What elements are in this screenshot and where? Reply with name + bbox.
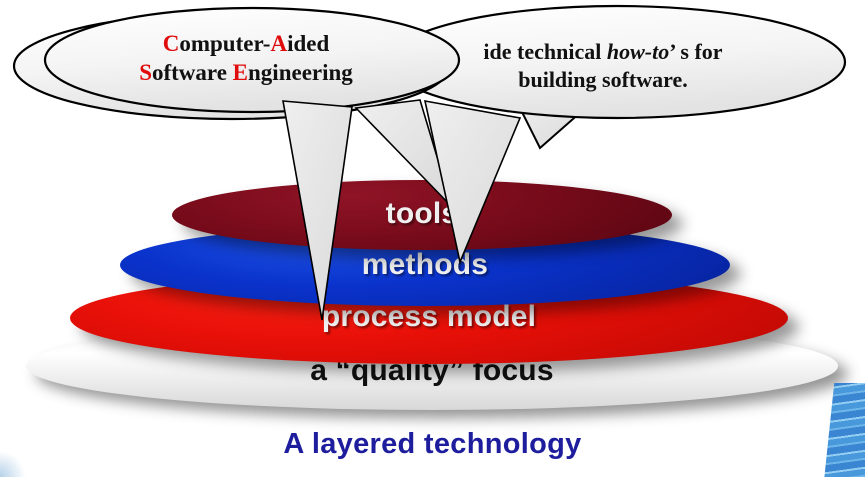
callout-case-line1-rest: omputer-	[179, 31, 270, 56]
callout-case-cap-a: A	[270, 31, 287, 56]
callout-case-line1: Computer-Aided	[96, 30, 396, 59]
slide-canvas: a “quality” focus process model methods …	[0, 0, 865, 477]
callout-howto-tail-base	[516, 100, 590, 148]
callout-case-line1-tail: ided	[287, 31, 329, 56]
callout-case-line2: Software Engineering	[96, 59, 396, 88]
corner-decoration-left	[0, 451, 26, 477]
callout-howto-italic: how-to	[607, 39, 669, 64]
callout-case-cap-s: S	[139, 60, 152, 85]
callout-case-text: Computer-Aided Software Engineering	[96, 30, 396, 88]
callout-case-cap-e: E	[233, 60, 248, 85]
callout-case-cap-c: C	[163, 31, 180, 56]
layered-technology-stack: a “quality” focus process model methods …	[0, 160, 865, 410]
callout-howto-line1-after: ’ s for	[669, 39, 722, 64]
callout-howto-line2: building software.	[418, 66, 788, 94]
slide-caption: A layered technology	[0, 428, 865, 461]
layer-tools[interactable]: tools	[172, 180, 672, 250]
blue-striped-building-icon	[824, 383, 865, 477]
layer-tools-disc	[172, 180, 672, 250]
callout-howto-text: ide technical how-to’ s for building sof…	[418, 38, 788, 93]
callout-case-line2-rest: oftware	[152, 60, 233, 85]
callout-howto-line1-visible: ide technical	[483, 39, 606, 64]
corner-decoration-right	[823, 382, 865, 477]
callout-case-line2-tail: ngineering	[248, 60, 353, 85]
callout-howto-line1: ide technical how-to’ s for	[418, 38, 788, 66]
